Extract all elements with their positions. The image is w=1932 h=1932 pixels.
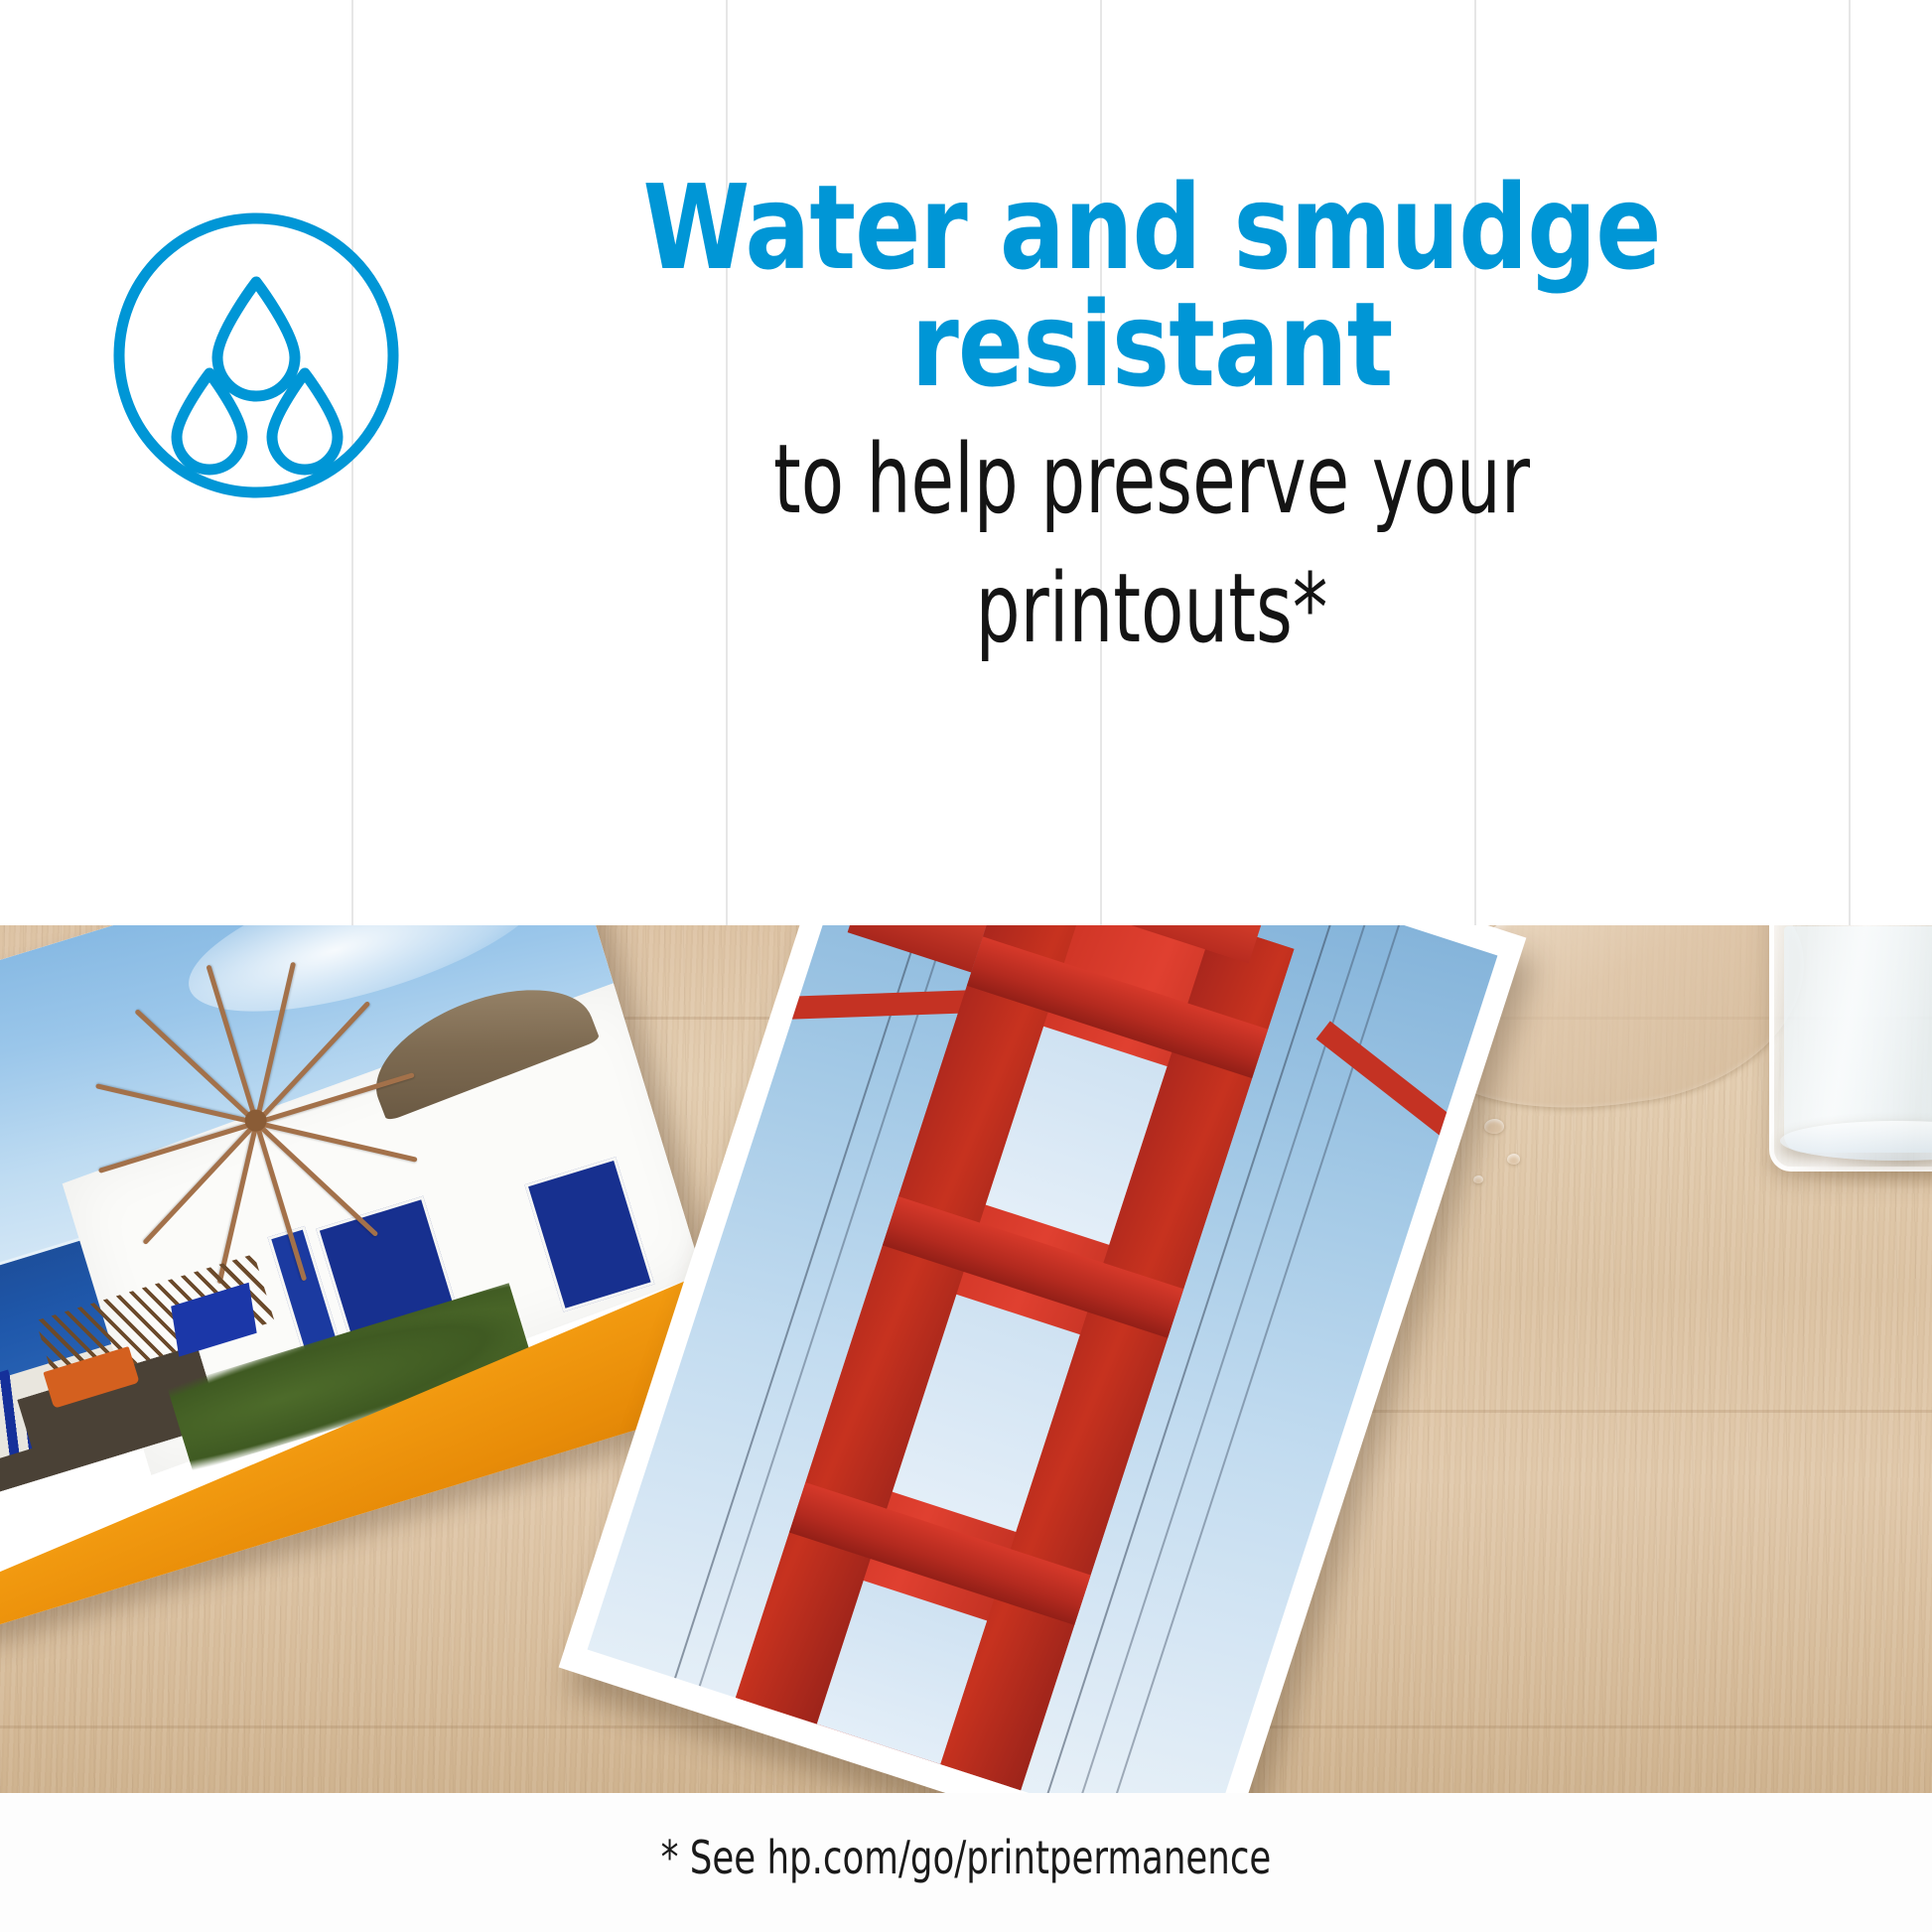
hero-panel: Water and smudge resistant to help prese… bbox=[0, 0, 1932, 925]
vertical-divider-5 bbox=[1849, 0, 1851, 925]
headline-line-1: Water and smudge bbox=[521, 169, 1782, 286]
subhead-line-2: printouts* bbox=[590, 558, 1714, 661]
footer: * See hp.com/go/printpermanence bbox=[0, 1793, 1932, 1932]
headline-line-2: resistant bbox=[521, 286, 1782, 403]
water-glass bbox=[1769, 925, 1932, 1191]
water-droplet-1 bbox=[1484, 1119, 1504, 1134]
water-droplet-3 bbox=[1473, 1175, 1483, 1183]
glass-water-fill bbox=[1784, 926, 1932, 1153]
hero-text-block: Water and smudge resistant to help prese… bbox=[467, 169, 1837, 660]
glass-body bbox=[1769, 925, 1932, 1172]
print-golden-gate bbox=[559, 925, 1527, 1793]
subhead-line-1: to help preserve your bbox=[590, 429, 1714, 532]
water-droplets-circle-icon bbox=[111, 210, 401, 500]
water-droplet-2 bbox=[1507, 1154, 1520, 1165]
bridge-far-tower-cap bbox=[848, 925, 989, 973]
product-photo bbox=[0, 925, 1932, 1793]
footnote-text: * See hp.com/go/printpermanence bbox=[135, 1831, 1797, 1884]
bridge-right-arm bbox=[1316, 1021, 1498, 1223]
marketing-banner: Water and smudge resistant to help prese… bbox=[0, 0, 1932, 1932]
bridge-image bbox=[588, 925, 1498, 1793]
